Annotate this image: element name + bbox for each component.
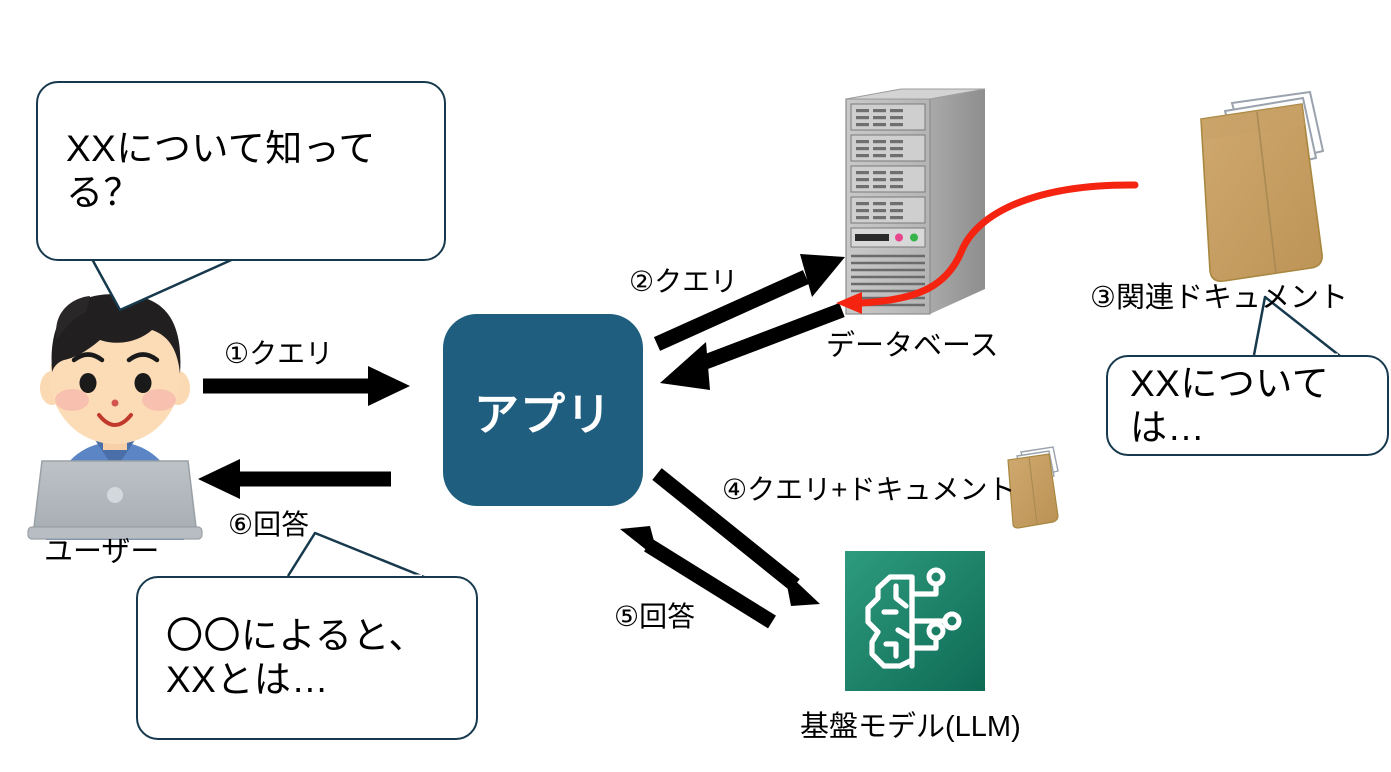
- arrow-db-to-app: [660, 310, 842, 390]
- user-node-label: ユーザー: [44, 528, 159, 570]
- edge-label-step5: ⑤回答: [614, 595, 695, 635]
- bubble-user-question: XXについて知ってる？: [36, 81, 446, 261]
- arrow-step1: [203, 366, 410, 406]
- llm-node-label: 基盤モデル(LLM): [800, 703, 1021, 745]
- bubble-tail-user-question: [92, 257, 238, 310]
- edge-label-step4: ④クエリ+ドキュメント: [722, 468, 1015, 508]
- app-node-label: アプリ: [474, 378, 612, 443]
- edge-label-step2: ②クエリ: [629, 260, 738, 300]
- bubble-document-content: XXについては…: [1106, 355, 1389, 456]
- bubble-user-answer-text: 〇〇によると、 XXとは…: [166, 614, 426, 701]
- edge-label-step6: ⑥回答: [228, 503, 309, 543]
- document-node-label: ③関連ドキュメント: [1090, 274, 1348, 316]
- edge-label-step1: ①クエリ: [224, 332, 333, 372]
- diagram-canvas: アプリ XXについて知ってる？ XXについては… 〇〇によると、 XXとは… ユ…: [0, 0, 1391, 772]
- arrow-step6: [198, 459, 391, 499]
- bubble-user-answer: 〇〇によると、 XXとは…: [136, 576, 478, 740]
- bubble-user-question-text: XXについて知ってる？: [66, 127, 416, 214]
- bubble-document-content-text: XXについては…: [1130, 362, 1365, 449]
- app-node[interactable]: アプリ: [443, 314, 643, 506]
- database-node-label: データベース: [826, 322, 999, 364]
